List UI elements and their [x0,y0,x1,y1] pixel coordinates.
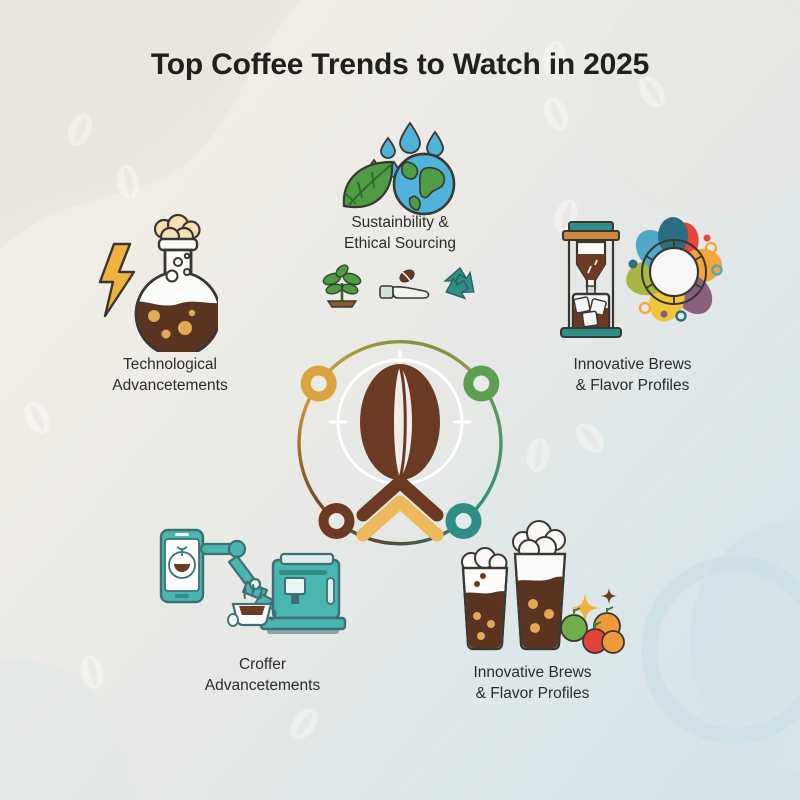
label-innovative-brews-right: Innovative Brews & Flavor Profiles [545,355,720,397]
label-croffer-advancements: Croffer Advancetements [185,655,340,697]
globe-icon [394,154,454,214]
coffee-flask-icon [126,215,218,352]
short-iced-coffee-icon [461,548,511,652]
sustainability-sub-icons [318,263,490,309]
recycle-icon [442,268,481,305]
label-technological-advancements: Technological Advancetements [90,355,250,397]
flavor-wheel-icon [623,217,724,326]
lightning-bolt-icon [100,244,134,316]
hand-holding-bean-icon [380,268,429,298]
label-sustainability-ethical-sourcing: Sustainbility & Ethical Sourcing [310,213,490,255]
page-title: Top Coffee Trends to Watch in 2025 [0,48,800,82]
infographic-canvas: Top Coffee Trends to Watch in 2025 [0,0,800,800]
double-chevron-up-icon [363,482,437,535]
label-innovative-brews-bottom: Innovative Brews & Flavor Profiles [440,663,625,705]
cold-brew-tower-flavor-wheel-icon [545,212,725,347]
robotic-arm-icon [201,541,273,610]
tall-iced-coffee-icon [513,521,569,652]
leaf-icon [344,162,392,207]
smartphone-icon [161,530,203,602]
robot-barista-icon [155,520,350,650]
leaf-globe-droplets-icon [330,118,480,218]
coffee-bean-icon [360,364,440,480]
hub-coffee-bean [265,330,535,550]
espresso-machine-icon [261,554,345,634]
fruit-cluster-icon [561,607,624,653]
cold-brew-drip-tower-icon [561,222,621,337]
flask-lightning-icon [88,212,218,352]
iced-latte-fruits-icon [455,520,625,655]
seedling-icon [322,263,362,307]
